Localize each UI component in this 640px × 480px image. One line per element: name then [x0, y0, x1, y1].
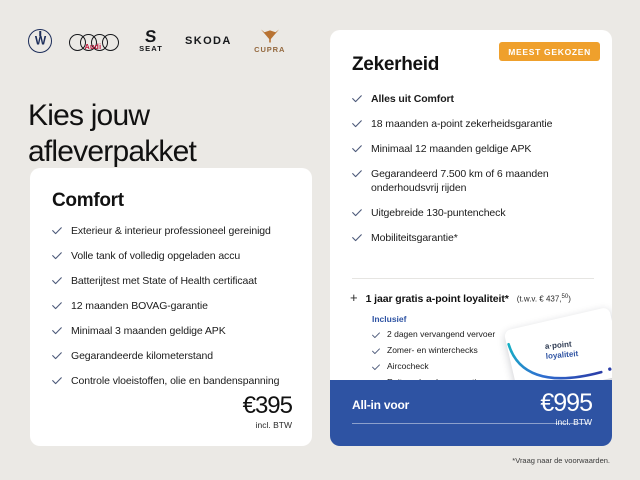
feature-label: Minimaal 3 maanden geldige APK [71, 324, 226, 338]
list-item: Minimaal 12 maanden geldige APK [352, 142, 596, 156]
feature-label: Batterijtest met State of Health certifi… [71, 274, 257, 288]
zekerheid-price-block: €995 incl. BTW [540, 390, 592, 427]
list-item: Mobiliteitsgarantie* [352, 231, 596, 245]
loyalty-bonus-row: + 1 jaar gratis a-point loyaliteit* (t.w… [350, 291, 602, 305]
feature-label: Controle vloeistoffen, olie en bandenspa… [71, 374, 279, 388]
inclusief-item-label: Aircocheck [387, 361, 429, 372]
list-item: Alles uit Comfort [352, 92, 596, 106]
zekerheid-price-note: incl. BTW [540, 417, 592, 427]
comfort-price-amount: €395 [243, 393, 292, 419]
vw-roundel-icon [28, 29, 52, 53]
check-icon [52, 299, 62, 313]
volkswagen-logo [28, 29, 52, 53]
check-icon [352, 142, 362, 156]
all-in-label: All-in voor [352, 398, 409, 412]
list-item: Volle tank of volledig opgeladen accu [52, 249, 296, 263]
comfort-package-card[interactable]: Comfort Exterieur & interieur profession… [30, 168, 312, 446]
page-title: Kies jouw afleverpakket [28, 98, 196, 170]
seat-s-icon: S [145, 29, 157, 44]
footnote: *Vraag naar de voorwaarden. [512, 456, 610, 465]
check-icon [52, 249, 62, 263]
check-icon [372, 361, 380, 372]
list-item: Gegarandeerde kilometerstand [52, 349, 296, 363]
cupra-logo: CUPRA [249, 28, 291, 54]
check-icon [352, 117, 362, 131]
check-icon [352, 231, 362, 245]
feature-label: 18 maanden a-point zekerheidsgarantie [371, 117, 552, 131]
skoda-wordmark: SKODA [185, 35, 232, 47]
check-icon [52, 324, 62, 338]
list-item: 18 maanden a-point zekerheidsgarantie [352, 117, 596, 131]
loyalty-bonus-value: (t.w.v. € 437,50) [517, 294, 571, 304]
check-icon [52, 374, 62, 388]
feature-label: Gegarandeerd 7.500 km of 6 maanden onder… [371, 167, 596, 195]
feature-label: Alles uit Comfort [371, 92, 454, 106]
cupra-tribal-icon [260, 28, 280, 44]
plus-icon: + [350, 291, 358, 304]
loyalty-value-suffix: ) [568, 295, 571, 304]
brand-logo-bar: Audi S SEAT SKODA CUPRA [28, 28, 291, 54]
feature-label: Volle tank of volledig opgeladen accu [71, 249, 240, 263]
list-item: Minimaal 3 maanden geldige APK [52, 324, 296, 338]
loyalty-value-prefix: (t.w.v. € 437, [517, 295, 562, 304]
feature-label: Uitgebreide 130-puntencheck [371, 206, 505, 220]
comfort-card-title: Comfort [52, 190, 124, 212]
comfort-feature-list: Exterieur & interieur professioneel gere… [52, 224, 296, 399]
list-item: Uitgebreide 130-puntencheck [352, 206, 596, 220]
zekerheid-card-title: Zekerheid [352, 54, 439, 76]
loyalty-bonus-label: 1 jaar gratis a-point loyaliteit* [366, 293, 509, 305]
check-icon [352, 92, 362, 106]
zekerheid-price-amount: €995 [540, 390, 592, 416]
inclusief-item-label: 2 dagen vervangend vervoer [387, 329, 495, 340]
check-icon [372, 329, 380, 340]
feature-label: Minimaal 12 maanden geldige APK [371, 142, 531, 156]
audi-logo: Audi [69, 29, 117, 53]
page-title-line-2: afleverpakket [28, 134, 196, 170]
zekerheid-price-footer: All-in voor €995 incl. BTW [330, 380, 612, 446]
list-item: Gegarandeerd 7.500 km of 6 maanden onder… [352, 167, 596, 195]
list-item: Controle vloeistoffen, olie en bandenspa… [52, 374, 296, 388]
check-icon [372, 345, 380, 356]
check-icon [52, 349, 62, 363]
check-icon [352, 206, 362, 220]
comfort-price-block: €395 incl. BTW [243, 393, 292, 430]
feature-label: Gegarandeerde kilometerstand [71, 349, 213, 363]
zekerheid-package-card[interactable]: MEEST GEKOZEN Zekerheid Alles uit Comfor… [330, 30, 612, 446]
feature-label: Exterieur & interieur professioneel gere… [71, 224, 271, 238]
audi-wordmark: Audi [69, 44, 117, 51]
check-icon [352, 167, 362, 181]
cupra-wordmark: CUPRA [254, 45, 285, 54]
list-item: Batterijtest met State of Health certifi… [52, 274, 296, 288]
status-badge: MEEST GEKOZEN [499, 42, 600, 61]
comfort-price-note: incl. BTW [243, 420, 292, 430]
page-title-line-1: Kies jouw [28, 98, 196, 134]
inclusief-item-label: Zomer- en winterchecks [387, 345, 478, 356]
loyalty-card-text: a·point loyaliteit [545, 339, 579, 362]
divider [352, 278, 594, 279]
list-item: 12 maanden BOVAG-garantie [52, 299, 296, 313]
seat-logo: S SEAT [134, 29, 168, 53]
check-icon [52, 224, 62, 238]
inclusief-title: Inclusief [372, 314, 552, 324]
zekerheid-feature-list: Alles uit Comfort 18 maanden a-point zek… [352, 92, 596, 256]
feature-label: 12 maanden BOVAG-garantie [71, 299, 208, 313]
check-icon [52, 274, 62, 288]
feature-label: Mobiliteitsgarantie* [371, 231, 458, 245]
list-item: Exterieur & interieur professioneel gere… [52, 224, 296, 238]
skoda-logo: SKODA [185, 35, 232, 47]
